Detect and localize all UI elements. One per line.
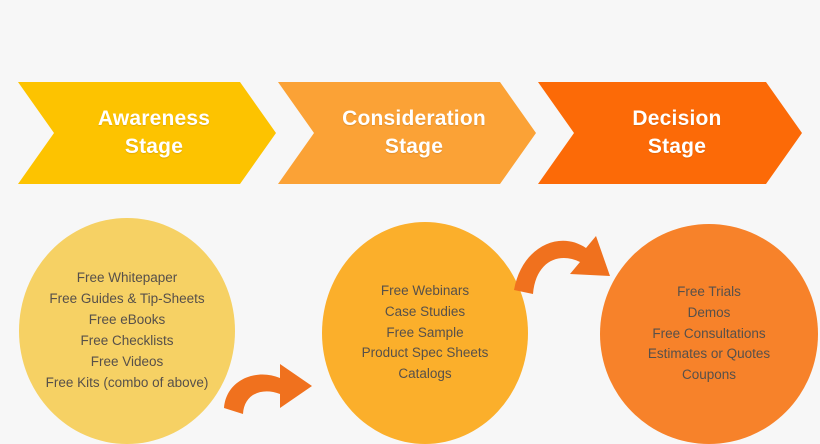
stage-banner-consideration[interactable]: Consideration Stage xyxy=(278,82,536,184)
stage-offers-consideration-list: Free Webinars Case Studies Free Sample P… xyxy=(356,281,495,386)
buyers-journey-diagram: Awareness Stage Consideration Stage Deci… xyxy=(0,0,820,444)
stage-offers-awareness[interactable]: Free Whitepaper Free Guides & Tip-Sheets… xyxy=(19,218,235,444)
stage-banner-decision-label: Decision Stage xyxy=(618,105,721,160)
stage-offers-awareness-list: Free Whitepaper Free Guides & Tip-Sheets… xyxy=(40,268,215,394)
stage-offers-decision[interactable]: Free Trials Demos Free Consultations Est… xyxy=(600,224,818,444)
curved-arrow-consideration-to-decision-icon xyxy=(512,228,616,298)
curved-arrow-awareness-to-consideration-icon xyxy=(222,352,322,422)
stage-offers-decision-list: Free Trials Demos Free Consultations Est… xyxy=(642,282,776,387)
stage-banner-row: Awareness Stage Consideration Stage Deci… xyxy=(0,82,820,184)
stage-banner-consideration-label: Consideration Stage xyxy=(328,105,486,160)
stage-banner-awareness-label: Awareness Stage xyxy=(84,105,210,160)
stage-offers-consideration[interactable]: Free Webinars Case Studies Free Sample P… xyxy=(322,222,528,444)
stage-banner-decision[interactable]: Decision Stage xyxy=(538,82,802,184)
stage-banner-awareness[interactable]: Awareness Stage xyxy=(18,82,276,184)
